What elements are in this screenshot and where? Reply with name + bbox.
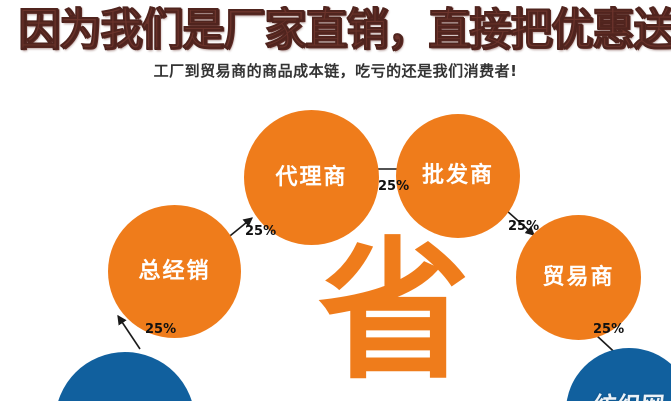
page-subtitle: 工厂到贸易商的商品成本链，吃亏的还是我们消费者! <box>0 60 671 81</box>
edge-label-agent-to-wholesaler: 25% <box>378 179 409 194</box>
edge-label-trader-to-consumer: 25% <box>593 322 624 337</box>
supply-chain-diagram: 工厂商 总经销 代理商 批发商 贸易商 纺织网 n c 纺织网 . c n 省 … <box>0 92 671 401</box>
watermark-title: 纺织网 <box>592 395 666 401</box>
node-general-distributor[interactable]: 总经销 <box>108 205 241 338</box>
site-watermark: 纺织网 n c 纺织网 . c n <box>566 348 671 401</box>
headline-band: 因为我们是厂家直销，直接把优惠送给消费者 <box>0 6 671 54</box>
poster-canvas: 因为我们是厂家直销，直接把优惠送给消费者 工厂到贸易商的商品成本链，吃亏的还是我… <box>0 0 671 401</box>
watermark-inner: 纺织网 n c 纺织网 . c n <box>566 348 671 401</box>
node-wholesaler-label: 批发商 <box>422 165 494 187</box>
edge-label-factory-to-distributor: 25% <box>145 322 176 337</box>
node-general-distributor-label: 总经销 <box>138 261 210 283</box>
edge-label-distributor-to-agent: 25% <box>245 224 276 239</box>
node-wholesaler[interactable]: 批发商 <box>396 114 520 238</box>
savings-glyph: 省 <box>318 237 458 397</box>
node-factory[interactable]: 工厂商 <box>55 352 195 401</box>
node-trader-label: 贸易商 <box>542 267 614 289</box>
page-title: 因为我们是厂家直销，直接把优惠送给消费者 <box>18 6 671 54</box>
edge-label-wholesaler-to-trader: 25% <box>508 220 539 233</box>
node-agent-label: 代理商 <box>275 167 347 189</box>
